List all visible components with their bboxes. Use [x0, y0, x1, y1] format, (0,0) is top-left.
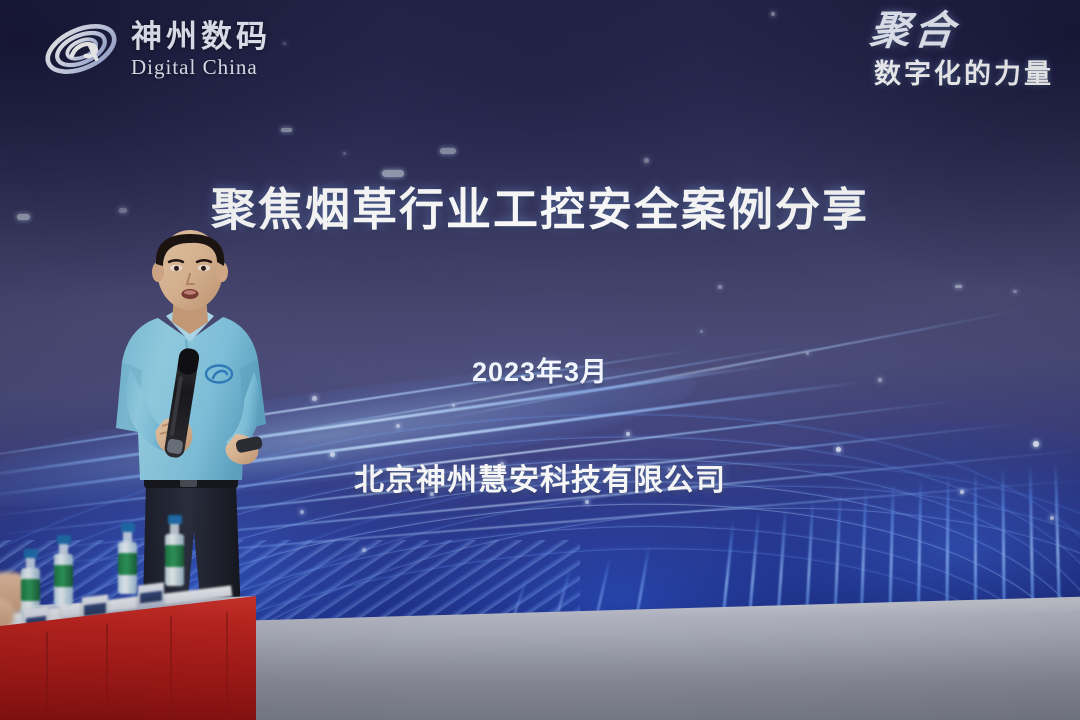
digital-china-cn-text: 神州数码	[131, 21, 271, 52]
swirl-galaxy-logo-icon	[42, 16, 120, 82]
water-bottle	[165, 515, 184, 586]
digital-china-wordmark: 神州数码 Digital China	[131, 21, 271, 78]
water-bottle	[118, 523, 137, 594]
water-bottle	[54, 535, 73, 606]
foreground-head-table	[0, 534, 264, 720]
event-calligraphy-text: 聚合	[868, 12, 960, 50]
conference-stage-photo: 神州数码 Digital China 聚合 数字化的力量 聚焦烟草行业工控安全案…	[0, 0, 1080, 720]
digital-china-en-text: Digital China	[131, 57, 271, 78]
digital-china-logo: 神州数码 Digital China	[42, 16, 271, 82]
event-subtitle-text: 数字化的力量	[870, 52, 1054, 91]
event-theme-logo: 聚合 数字化的力量	[870, 12, 1054, 91]
